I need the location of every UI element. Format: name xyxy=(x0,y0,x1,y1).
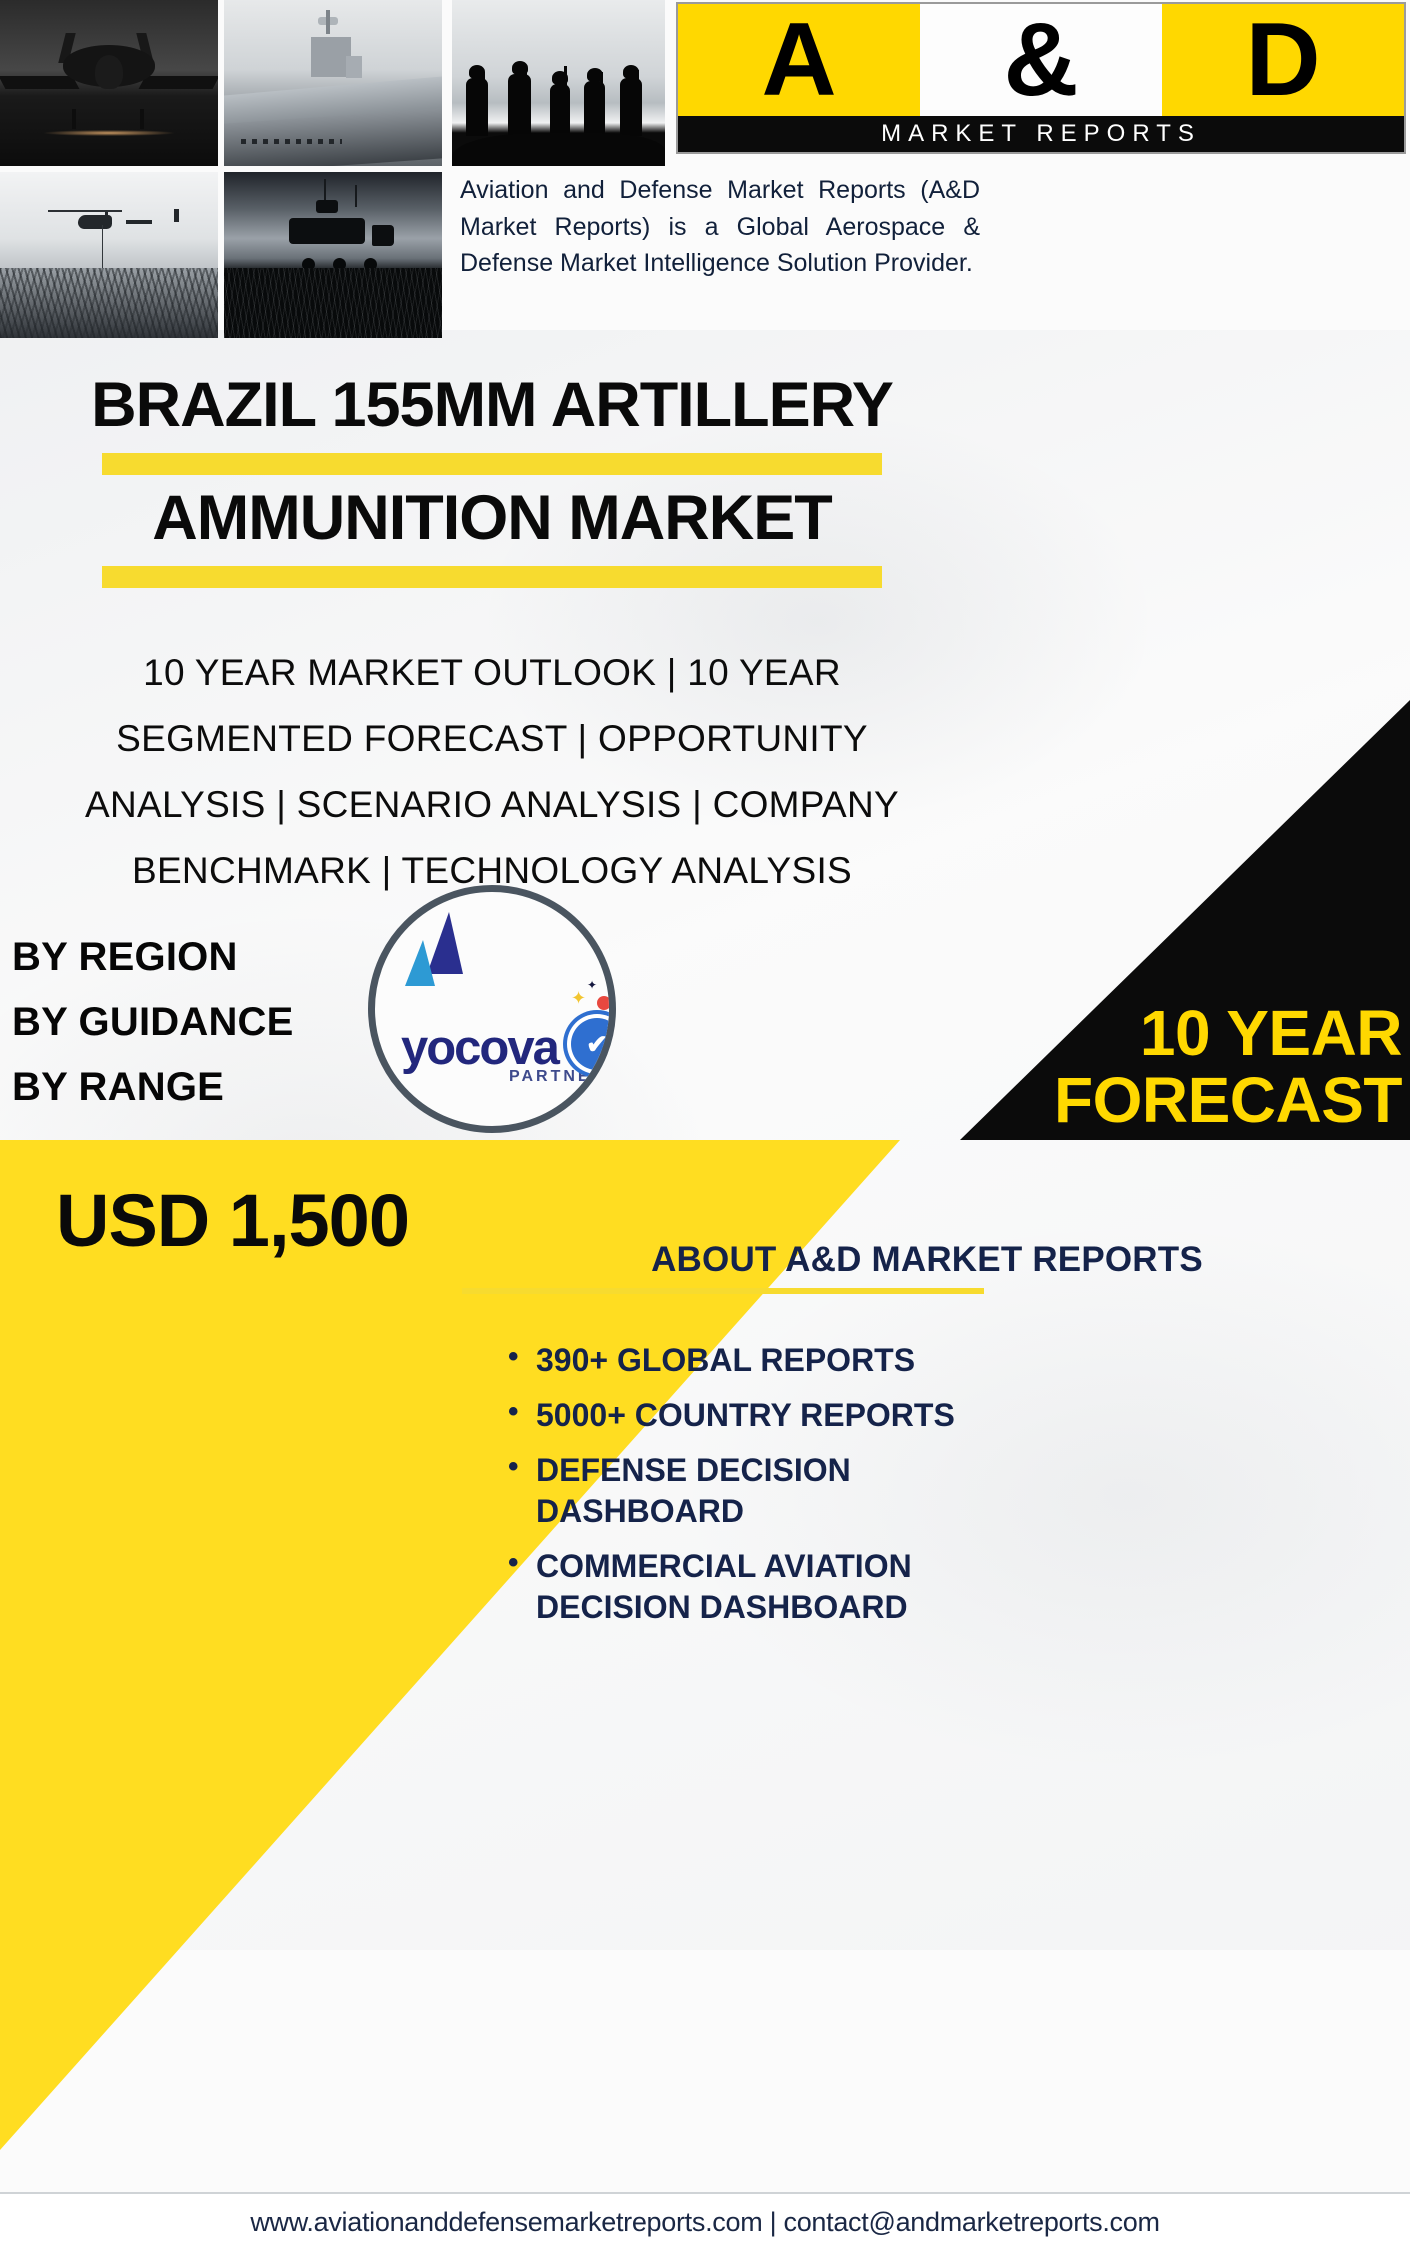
intro-paragraph: Aviation and Defense Market Reports (A&D… xyxy=(460,172,980,282)
list-item: 5000+ COUNTRY REPORTS xyxy=(500,1395,970,1436)
photo-strip xyxy=(0,0,665,338)
shoreline-shape xyxy=(452,133,665,166)
logo-letter-row: A & D xyxy=(678,4,1404,116)
ship-tower-shape xyxy=(346,56,362,78)
price-label: USD 1,500 xyxy=(56,1178,409,1263)
rifle-shape xyxy=(482,72,485,116)
helicopter-tail-shape xyxy=(126,220,152,224)
about-title-underline xyxy=(462,1288,984,1294)
headline-block: BRAZIL 155MM ARTILLERY AMMUNITION MARKET xyxy=(0,372,984,598)
company-logo: A & D MARKET REPORTS xyxy=(676,2,1406,154)
antenna-shape xyxy=(355,185,357,207)
logo-letter-d: D xyxy=(1162,4,1404,116)
segmentation-list: BY REGION BY GUIDANCE BY RANGE xyxy=(12,925,294,1119)
grass-field-shape xyxy=(0,268,218,338)
rifle-shape xyxy=(524,68,527,116)
forecast-badge-line-1: 10 YEAR xyxy=(982,1000,1402,1067)
logo-subtitle-bar: MARKET REPORTS xyxy=(678,116,1404,152)
soldier-silhouette xyxy=(550,84,570,136)
segment-item-range: BY RANGE xyxy=(12,1055,294,1120)
photo-armored-vehicle xyxy=(224,172,442,338)
photo-fighter-jet xyxy=(0,0,218,166)
logo-letter-a: A xyxy=(678,4,920,116)
turret-shape xyxy=(316,200,338,213)
ship-mast-shape xyxy=(326,10,330,34)
jet-nose-shape xyxy=(95,55,123,89)
headline-underline-1 xyxy=(102,453,882,475)
yocova-partner-badge: ✦ ✦ yocova PARTNER ✔ xyxy=(368,885,616,1133)
headline-line-1: BRAZIL 155MM ARTILLERY xyxy=(0,372,984,439)
list-item: 390+ GLOBAL REPORTS xyxy=(500,1340,970,1381)
list-item: COMMERCIAL AVIATION DECISION DASHBOARD xyxy=(500,1546,970,1628)
rifle-shape xyxy=(636,70,639,116)
sparkle-icon: ✦ xyxy=(587,978,597,992)
soldier-silhouette xyxy=(508,74,531,136)
footer-contact-bar: www.aviationanddefensemarketreports.com … xyxy=(0,2192,1410,2250)
helicopter-rotor-shape xyxy=(48,210,122,212)
headline-underline-2 xyxy=(102,566,882,588)
about-title: ABOUT A&D MARKET REPORTS xyxy=(462,1240,1392,1280)
about-panel: ABOUT A&D MARKET REPORTS 390+ GLOBAL REP… xyxy=(462,1240,1392,1642)
ship-portholes-shape xyxy=(241,139,341,144)
jet-gear-right-shape xyxy=(140,109,144,129)
jet-wing-left-shape xyxy=(0,76,79,89)
outlook-features-text: 10 YEAR MARKET OUTLOOK | 10 YEAR SEGMENT… xyxy=(22,640,962,903)
red-dot-icon xyxy=(597,996,611,1010)
list-item: DEFENSE DECISION DASHBOARD xyxy=(500,1450,970,1532)
segment-item-region: BY REGION xyxy=(12,925,294,990)
rifle-shape xyxy=(600,72,603,116)
fast-rope-shape xyxy=(102,225,103,269)
about-list: 390+ GLOBAL REPORTS 5000+ COUNTRY REPORT… xyxy=(500,1340,1392,1628)
photo-aircraft-carrier xyxy=(224,0,442,166)
logo-letter-amp: & xyxy=(920,4,1162,116)
front-shape xyxy=(372,225,394,246)
forecast-badge: 10 YEAR FORECAST xyxy=(982,1000,1402,1134)
jet-wing-right-shape xyxy=(139,76,218,89)
hull-shape xyxy=(289,218,365,244)
jet-gear-left-shape xyxy=(72,109,76,129)
helicopter-fin-shape xyxy=(174,209,179,222)
headline-line-2: AMMUNITION MARKET xyxy=(0,485,984,552)
photo-helicopter-field xyxy=(0,172,218,338)
terrain-shape xyxy=(224,268,442,338)
jet-runway-glow xyxy=(44,130,175,136)
rifle-shape xyxy=(564,66,567,116)
yocova-triangle-light-icon xyxy=(405,940,435,986)
verified-check-icon: ✔ xyxy=(571,1018,616,1070)
helicopter-body-shape xyxy=(78,215,112,229)
sparkle-icon: ✦ xyxy=(571,988,586,1009)
photo-soldiers-silhouette xyxy=(452,0,665,166)
forecast-badge-line-2: FORECAST xyxy=(982,1067,1402,1134)
yocova-partner-label: PARTNER xyxy=(509,1068,606,1086)
segment-item-guidance: BY GUIDANCE xyxy=(12,990,294,1055)
